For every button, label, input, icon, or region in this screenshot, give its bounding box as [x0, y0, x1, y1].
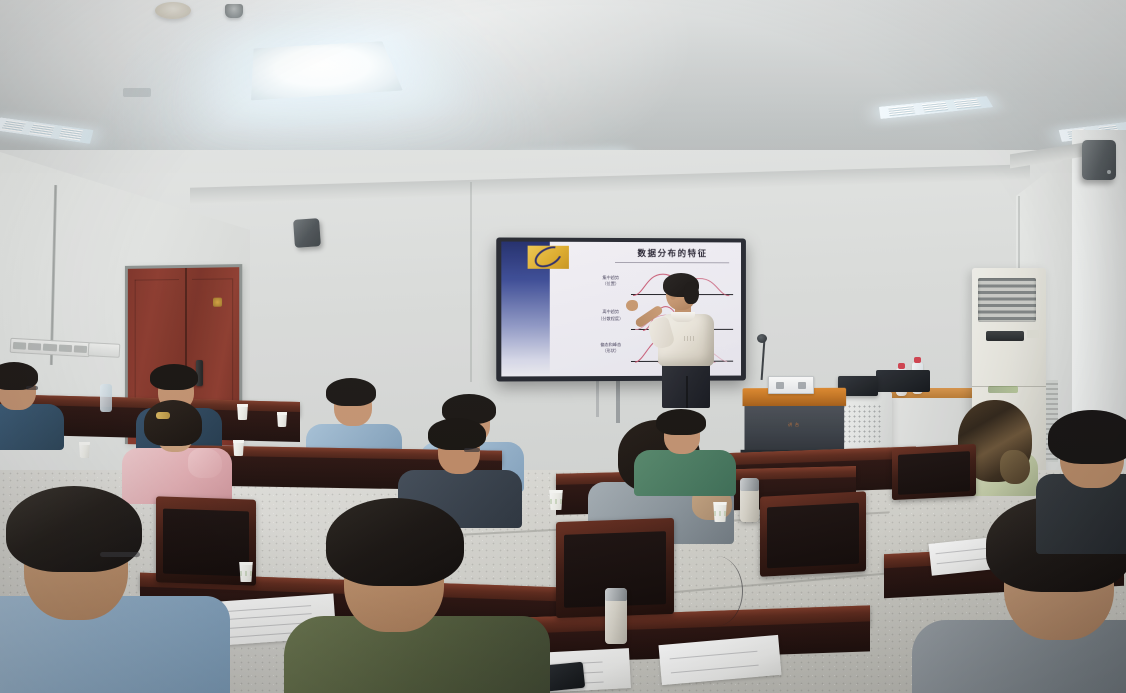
paper-cup	[276, 412, 288, 427]
av-equipment-box	[876, 370, 930, 392]
institution-logo-icon	[528, 246, 569, 269]
lectern-body	[744, 406, 844, 454]
ceiling-vent	[123, 88, 151, 97]
audience-top	[0, 596, 230, 693]
slide-row-label: 离中趋势 （分散程度）	[592, 309, 629, 322]
audience-member-far-right-dark	[1046, 416, 1126, 546]
ac-louver-vent	[978, 278, 1036, 322]
led-panel-light	[251, 41, 403, 100]
microphone-icon[interactable]	[757, 334, 767, 343]
eyeglasses-icon	[100, 552, 140, 557]
slide-row-label: 偏态和峰态 （形状）	[592, 342, 629, 355]
slide-title: 数据分布的特征	[615, 247, 729, 259]
name-placard	[768, 376, 814, 394]
eyeglasses-icon	[464, 448, 480, 452]
paper-cup	[238, 562, 254, 582]
presenter	[640, 276, 726, 406]
paper-cup	[232, 440, 245, 456]
earphone-cable	[690, 556, 743, 626]
audience-member-front-center-olive	[300, 498, 520, 693]
eyeglasses-icon	[26, 386, 38, 390]
audience-member-back-left	[0, 362, 66, 442]
wall-speaker-icon	[293, 218, 321, 248]
display-mount-pole	[616, 381, 620, 423]
paper-cup	[236, 404, 249, 420]
lectern: 讲 台	[743, 388, 847, 454]
audience-member-green-polo	[638, 412, 730, 488]
classroom-photo: 数据分布的特征 集中趋势 （位置）	[0, 0, 1126, 693]
thermos-bottle	[605, 588, 627, 644]
paper-cup	[712, 502, 728, 522]
display-mount-pole	[596, 381, 599, 417]
ac-display-panel	[986, 331, 1024, 341]
thermos-bottle	[740, 478, 759, 522]
fire-sprinkler-icon	[225, 4, 243, 18]
chair-back	[892, 444, 976, 500]
door-lock-icon	[213, 298, 222, 307]
wall-switch-plate[interactable]	[88, 342, 121, 358]
smoke-detector-icon	[155, 2, 191, 19]
chair-back	[760, 491, 866, 577]
slide-row-label: 集中趋势 （位置）	[592, 275, 629, 288]
audience-member-front-left-blue	[0, 486, 200, 693]
paper-cup	[548, 490, 564, 510]
lectern-sign: 讲 台	[788, 422, 800, 428]
presenter-hand-pointing	[626, 300, 638, 311]
audience-member-pink-blouse	[126, 400, 226, 498]
slide-title-rule	[615, 262, 729, 263]
wall-speaker-icon	[1082, 140, 1116, 180]
paper-cup	[78, 442, 91, 458]
water-bottle	[100, 384, 112, 412]
hair-clip-icon	[156, 412, 170, 419]
audience-top	[634, 450, 736, 496]
wall-seam	[470, 182, 472, 382]
